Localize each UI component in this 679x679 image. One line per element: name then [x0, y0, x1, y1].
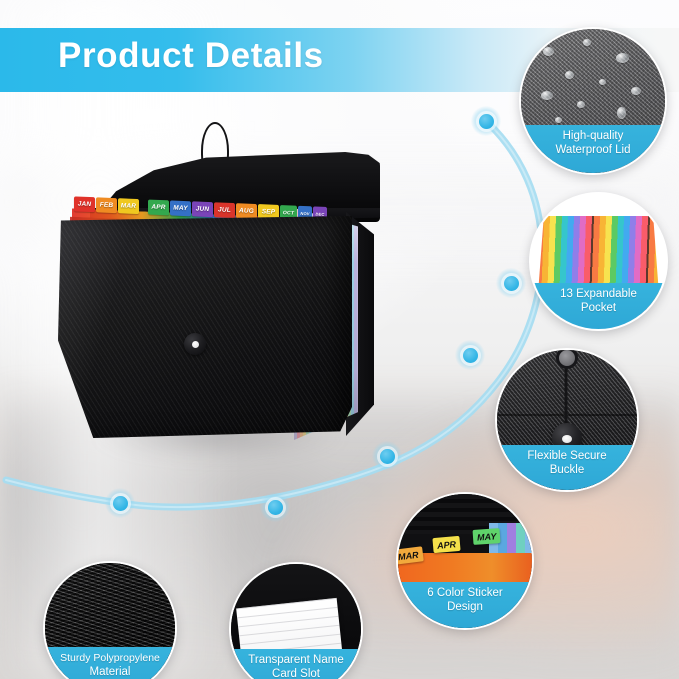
water-droplet-icon: [583, 39, 591, 46]
feature-bubble-color-sticker[interactable]: MAR APR MAY 6 Color Sticker Design: [396, 492, 534, 630]
water-droplet-icon: [541, 91, 553, 100]
feature-bubble-secure-buckle[interactable]: Flexible Secure Buckle: [495, 348, 639, 492]
water-droplet-icon: [631, 87, 641, 95]
water-droplet-icon: [565, 71, 574, 79]
month-tab-mar: MAR: [118, 198, 139, 214]
feature-bubble-name-card-slot[interactable]: Transparent Name Card Slot: [229, 562, 363, 679]
feature-label-line1: 13 Expandable: [560, 287, 637, 301]
feature-label-line2: Waterproof Lid: [556, 143, 631, 157]
feature-label-name-card-slot: Transparent Name Card Slot: [231, 649, 361, 679]
feature-label-line1: Sturdy Polypropylene: [60, 651, 160, 665]
month-tab-may: MAY: [170, 200, 191, 216]
water-droplet-icon: [617, 107, 626, 119]
button-clasp: [184, 333, 206, 355]
feature-label-polypropylene-material: Sturdy Polypropylene Material: [45, 647, 175, 679]
buckle-ring-icon: [556, 348, 578, 369]
water-droplet-icon: [555, 117, 562, 123]
feature-label-waterproof-lid: High-quality Waterproof Lid: [521, 125, 665, 173]
month-tab-jul: JUL: [214, 202, 235, 218]
sticker-tab-apr: APR: [432, 536, 460, 553]
product-hero-image: JAN FEB MAR APR MAY JUN JUL AUG SEP OCT …: [46, 150, 391, 460]
feature-label-line2: Buckle: [550, 463, 585, 477]
month-tab-feb: FEB: [96, 197, 117, 213]
sticker-tab-mar: MAR: [396, 546, 423, 564]
feature-label-line2: Card Slot: [272, 667, 320, 679]
month-tab-jun: JUN: [192, 201, 213, 217]
product-details-infographic: Product Details JAN FEB MAR APR MAY JUN …: [0, 0, 679, 679]
buckle-cord: [564, 361, 567, 425]
water-droplet-icon: [616, 53, 629, 63]
feature-label-line1: Flexible Secure: [527, 449, 606, 463]
feature-label-line2: Material: [90, 665, 131, 679]
connector-node-2: [496, 268, 526, 298]
page-title: Product Details: [58, 36, 324, 76]
feature-label-color-sticker: 6 Color Sticker Design: [398, 582, 532, 628]
feature-label-expandable-pocket: 13 Expandable Pocket: [531, 283, 666, 329]
feature-label-line1: High-quality: [563, 129, 624, 143]
feature-bubble-expandable-pocket[interactable]: 13 Expandable Pocket: [529, 192, 668, 331]
connector-node-1: [471, 106, 501, 136]
month-tab-jan: JAN: [74, 196, 95, 212]
connector-node-5: [260, 492, 290, 522]
water-droplet-icon: [543, 47, 554, 56]
feature-bubble-polypropylene-material[interactable]: Sturdy Polypropylene Material: [43, 561, 177, 679]
water-droplet-icon: [599, 79, 606, 85]
feature-bubble-waterproof-lid[interactable]: High-quality Waterproof Lid: [519, 27, 667, 175]
feature-label-line1: 6 Color Sticker: [427, 586, 502, 600]
feature-label-line2: Design: [447, 600, 483, 614]
connector-node-6: [105, 488, 135, 518]
folder-body-highlight: [58, 216, 352, 438]
month-tab-apr: APR: [148, 199, 169, 215]
month-tab-aug: AUG: [236, 203, 257, 219]
water-droplet-icon: [577, 101, 585, 108]
sticker-tab-may: MAY: [473, 528, 501, 545]
feature-label-line1: Transparent Name: [248, 653, 343, 667]
connector-node-3: [455, 340, 485, 370]
feature-label-line2: Pocket: [581, 301, 616, 315]
feature-label-secure-buckle: Flexible Secure Buckle: [497, 445, 637, 490]
